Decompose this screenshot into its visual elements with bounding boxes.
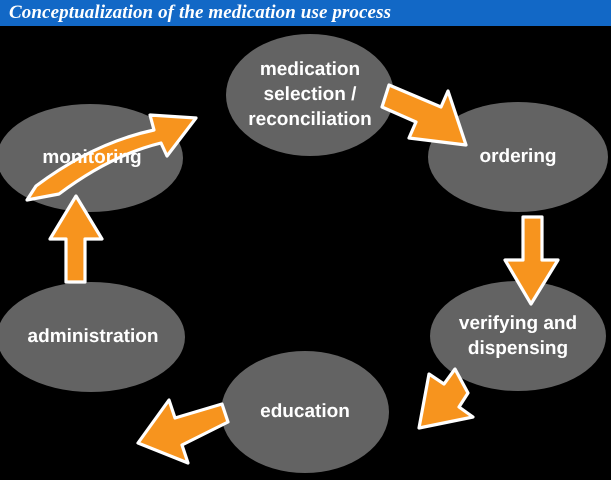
arrow-education-to-administration — [138, 400, 228, 463]
diagram-canvas: Conceptualization of the medication use … — [0, 0, 611, 480]
node-ellipse-administration[interactable] — [0, 282, 185, 392]
node-ellipse-education[interactable] — [221, 351, 389, 473]
cycle-diagram-graphic — [0, 26, 611, 480]
diagram-stage: medication selection / reconciliation or… — [0, 26, 611, 480]
arrow-medication-selection-to-ordering — [382, 85, 466, 145]
page-title: Conceptualization of the medication use … — [9, 2, 391, 24]
title-bar: Conceptualization of the medication use … — [0, 0, 611, 26]
node-ellipse-medication-selection[interactable] — [226, 34, 394, 156]
